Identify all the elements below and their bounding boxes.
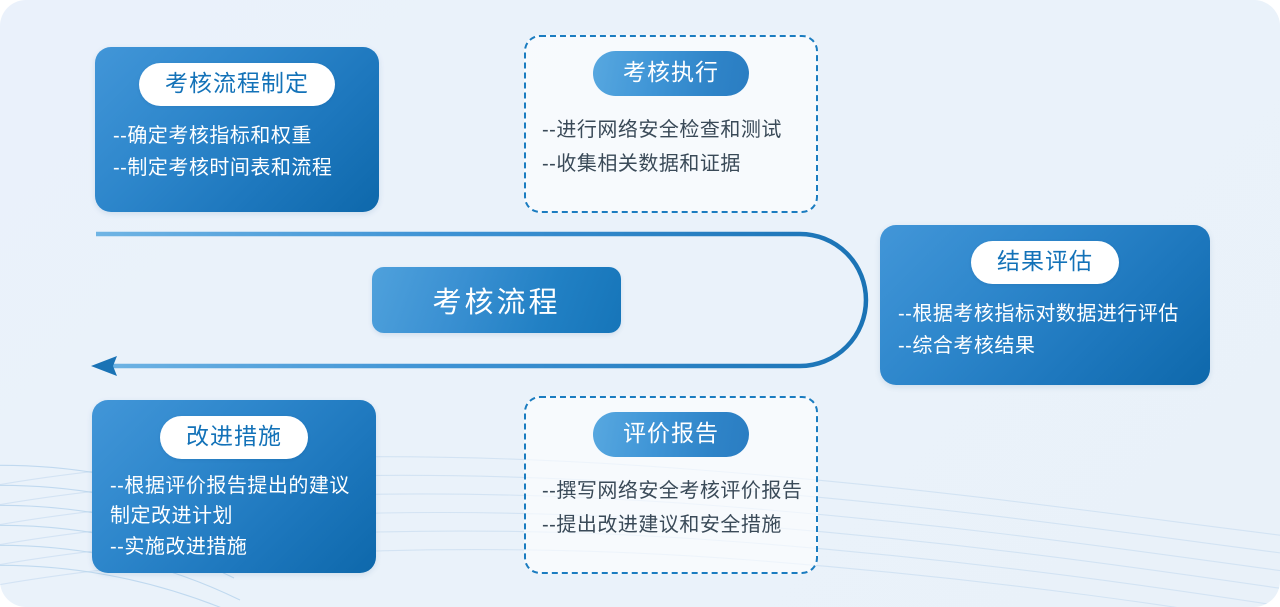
node-assessment-execution[interactable]: 考核执行 --进行网络安全检查和测试 --收集相关数据和证据 (524, 35, 818, 213)
node-items-process-definition: --确定考核指标和权重 --制定考核时间表和流程 (113, 120, 361, 185)
node-result-evaluation[interactable]: 结果评估 --根据考核指标对数据进行评估 --综合考核结果 (880, 225, 1210, 385)
list-item: --进行网络安全检查和测试 (542, 113, 800, 147)
list-item: --制定考核时间表和流程 (113, 152, 361, 184)
list-item: --收集相关数据和证据 (542, 147, 800, 181)
node-items-assessment-execution: --进行网络安全检查和测试 --收集相关数据和证据 (542, 113, 800, 181)
node-items-improvement-measures: --根据评价报告提出的建议 制定改进计划 --实施改进措施 (110, 471, 358, 562)
node-title-improvement-measures: 改进措施 (160, 416, 308, 459)
list-item: --实施改进措施 (110, 532, 358, 562)
list-item: --根据评价报告提出的建议 (110, 471, 358, 501)
node-title-evaluation-report: 评价报告 (593, 412, 749, 457)
list-item: --撰写网络安全考核评价报告 (542, 474, 800, 508)
list-item: --确定考核指标和权重 (113, 120, 361, 152)
list-item: --提出改进建议和安全措施 (542, 508, 800, 542)
center-flow-label: 考核流程 (372, 267, 621, 333)
list-item: 制定改进计划 (110, 501, 358, 531)
list-item: --根据考核指标对数据进行评估 (898, 298, 1192, 330)
node-title-result-evaluation: 结果评估 (971, 241, 1119, 284)
flow-diagram-canvas: 考核流程制定 --确定考核指标和权重 --制定考核时间表和流程 考核执行 --进… (0, 0, 1280, 607)
node-improvement-measures[interactable]: 改进措施 --根据评价报告提出的建议 制定改进计划 --实施改进措施 (92, 400, 376, 573)
node-evaluation-report[interactable]: 评价报告 --撰写网络安全考核评价报告 --提出改进建议和安全措施 (524, 396, 818, 574)
node-title-assessment-execution: 考核执行 (593, 51, 749, 96)
list-item: --综合考核结果 (898, 330, 1192, 362)
node-items-evaluation-report: --撰写网络安全考核评价报告 --提出改进建议和安全措施 (542, 474, 800, 542)
node-items-result-evaluation: --根据考核指标对数据进行评估 --综合考核结果 (898, 298, 1192, 363)
node-title-process-definition: 考核流程制定 (139, 63, 335, 106)
node-process-definition[interactable]: 考核流程制定 --确定考核指标和权重 --制定考核时间表和流程 (95, 47, 379, 212)
